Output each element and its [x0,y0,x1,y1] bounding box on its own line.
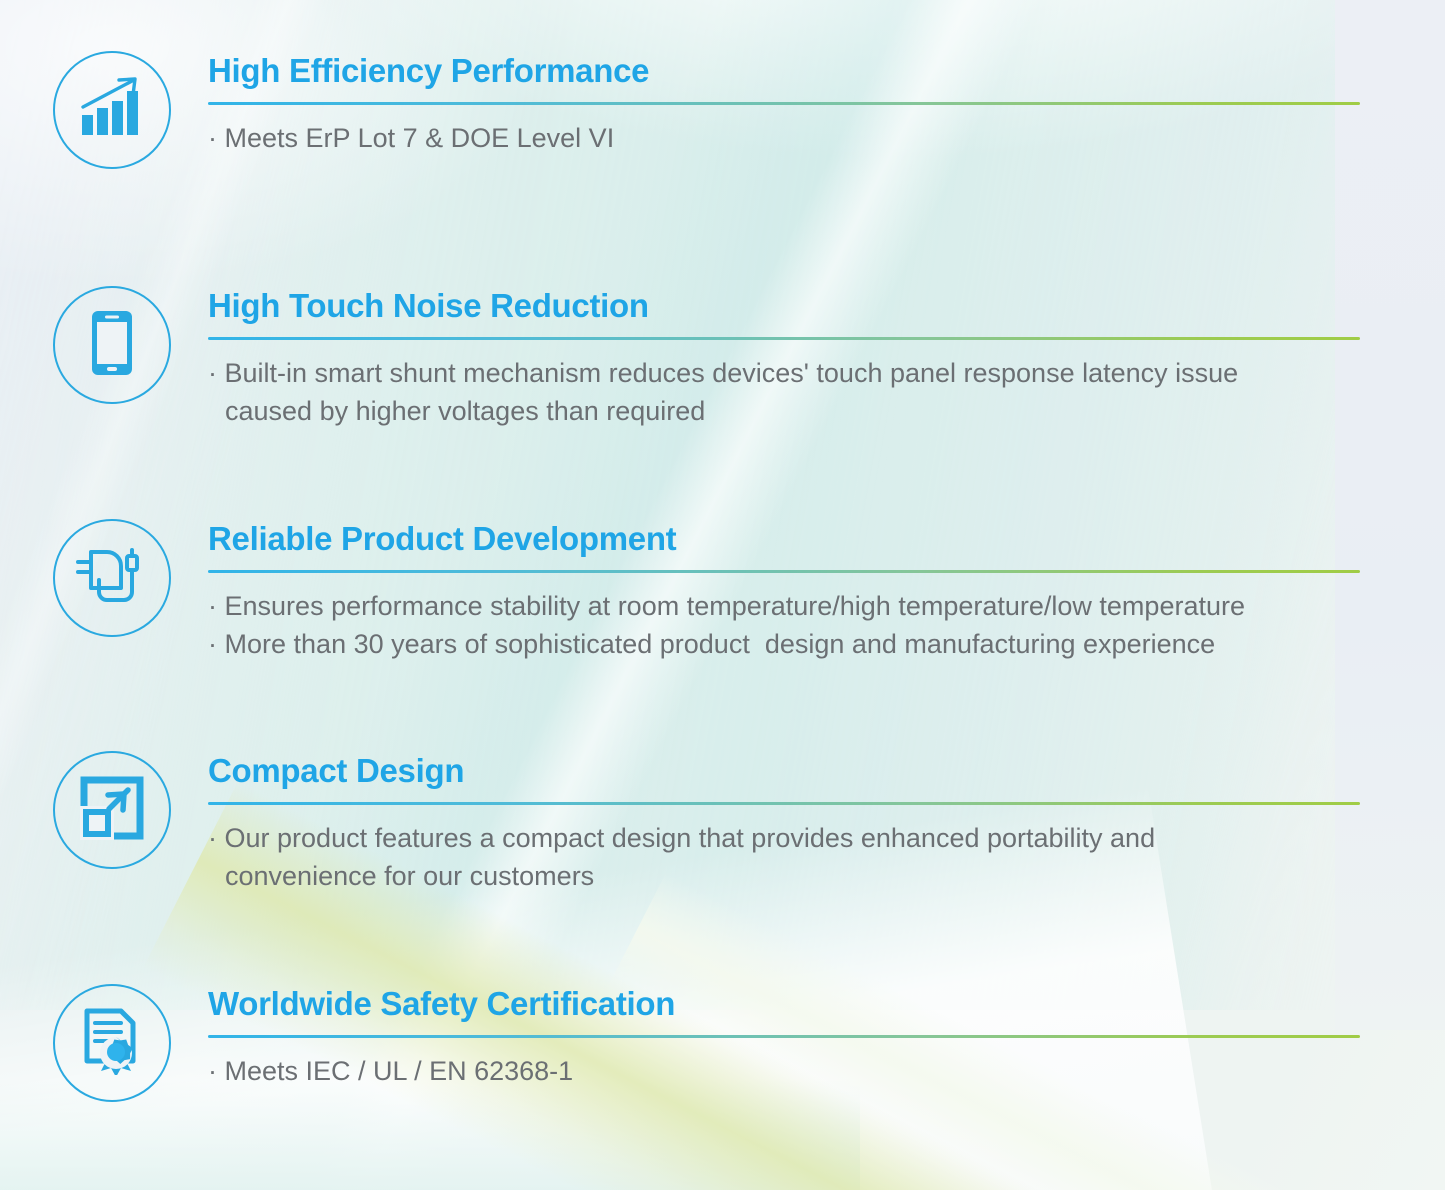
feature-title: Worldwide Safety Certification [208,987,1360,1022]
feature-line: convenience for our customers [208,857,1360,895]
feature-divider-rule [208,102,1360,105]
feature-item-high-efficiency-performance: High Efficiency Performance · Meets ErP … [52,50,1360,170]
feature-line: · More than 30 years of sophisticated pr… [208,625,1360,663]
feature-line-text: caused by higher voltages than required [208,392,705,430]
feature-item-high-touch-noise-reduction: High Touch Noise Reduction · Built-in sm… [52,285,1360,431]
bullet-dot: · [208,358,217,388]
feature-title: High Efficiency Performance [208,54,1360,89]
feature-item-reliable-product-development: Reliable Product Development · Ensures p… [52,518,1360,664]
icon-circle-frame [53,286,171,404]
feature-divider-rule [208,802,1360,805]
feature-divider-rule [208,1035,1360,1038]
feature-line-text: Meets ErP Lot 7 & DOE Level VI [225,123,615,153]
icon-circle-frame [53,519,171,637]
feature-lines: · Meets IEC / UL / EN 62368-1 [208,1052,1360,1090]
bullet-dot: · [208,123,217,153]
feature-icon-slot [52,50,172,170]
bar-chart-growth-icon [78,77,146,144]
feature-lines: · Meets ErP Lot 7 & DOE Level VI [208,119,1360,157]
feature-body: Worldwide Safety Certification · Meets I… [208,983,1360,1090]
feature-title: High Touch Noise Reduction [208,289,1360,324]
feature-line-text: Our product features a compact design th… [225,823,1156,853]
feature-icon-slot [52,983,172,1103]
bullet-dot: · [208,823,217,853]
feature-lines: · Built-in smart shunt mechanism reduces… [208,354,1360,431]
feature-title: Compact Design [208,754,1360,789]
feature-body: Compact Design · Our product features a … [208,750,1360,896]
feature-line: · Meets IEC / UL / EN 62368-1 [208,1052,1360,1090]
feature-line-text: convenience for our customers [208,857,594,895]
feature-icon-slot [52,518,172,638]
feature-line: caused by higher voltages than required [208,392,1360,430]
icon-circle-frame [53,751,171,869]
feature-item-worldwide-safety-certification: Worldwide Safety Certification · Meets I… [52,983,1360,1103]
feature-line-text: Ensures performance stability at room te… [225,591,1245,621]
feature-divider-rule [208,337,1360,340]
smartphone-icon [90,309,134,382]
feature-item-compact-design: Compact Design · Our product features a … [52,750,1360,896]
bullet-dot: · [208,629,217,659]
compact-resize-icon [80,776,144,845]
certificate-award-icon [81,1007,143,1080]
bullet-dot: · [208,591,217,621]
feature-icon-slot [52,750,172,870]
power-adapter-icon [74,542,150,615]
feature-divider-rule [208,570,1360,573]
feature-body: Reliable Product Development · Ensures p… [208,518,1360,664]
feature-line: · Ensures performance stability at room … [208,587,1360,625]
icon-circle-frame [53,984,171,1102]
bullet-dot: · [208,1056,217,1086]
feature-sheet: High Efficiency Performance · Meets ErP … [0,0,1445,1190]
feature-icon-slot [52,285,172,405]
feature-title: Reliable Product Development [208,522,1360,557]
feature-line-text: Built-in smart shunt mechanism reduces d… [225,358,1239,388]
feature-line-text: More than 30 years of sophisticated prod… [225,629,1216,659]
feature-line-text: Meets IEC / UL / EN 62368-1 [225,1056,574,1086]
feature-body: High Efficiency Performance · Meets ErP … [208,50,1360,157]
feature-body: High Touch Noise Reduction · Built-in sm… [208,285,1360,431]
feature-lines: · Our product features a compact design … [208,819,1360,896]
feature-line: · Built-in smart shunt mechanism reduces… [208,354,1360,392]
feature-lines: · Ensures performance stability at room … [208,587,1360,664]
feature-line: · Our product features a compact design … [208,819,1360,857]
icon-circle-frame [53,51,171,169]
feature-line: · Meets ErP Lot 7 & DOE Level VI [208,119,1360,157]
